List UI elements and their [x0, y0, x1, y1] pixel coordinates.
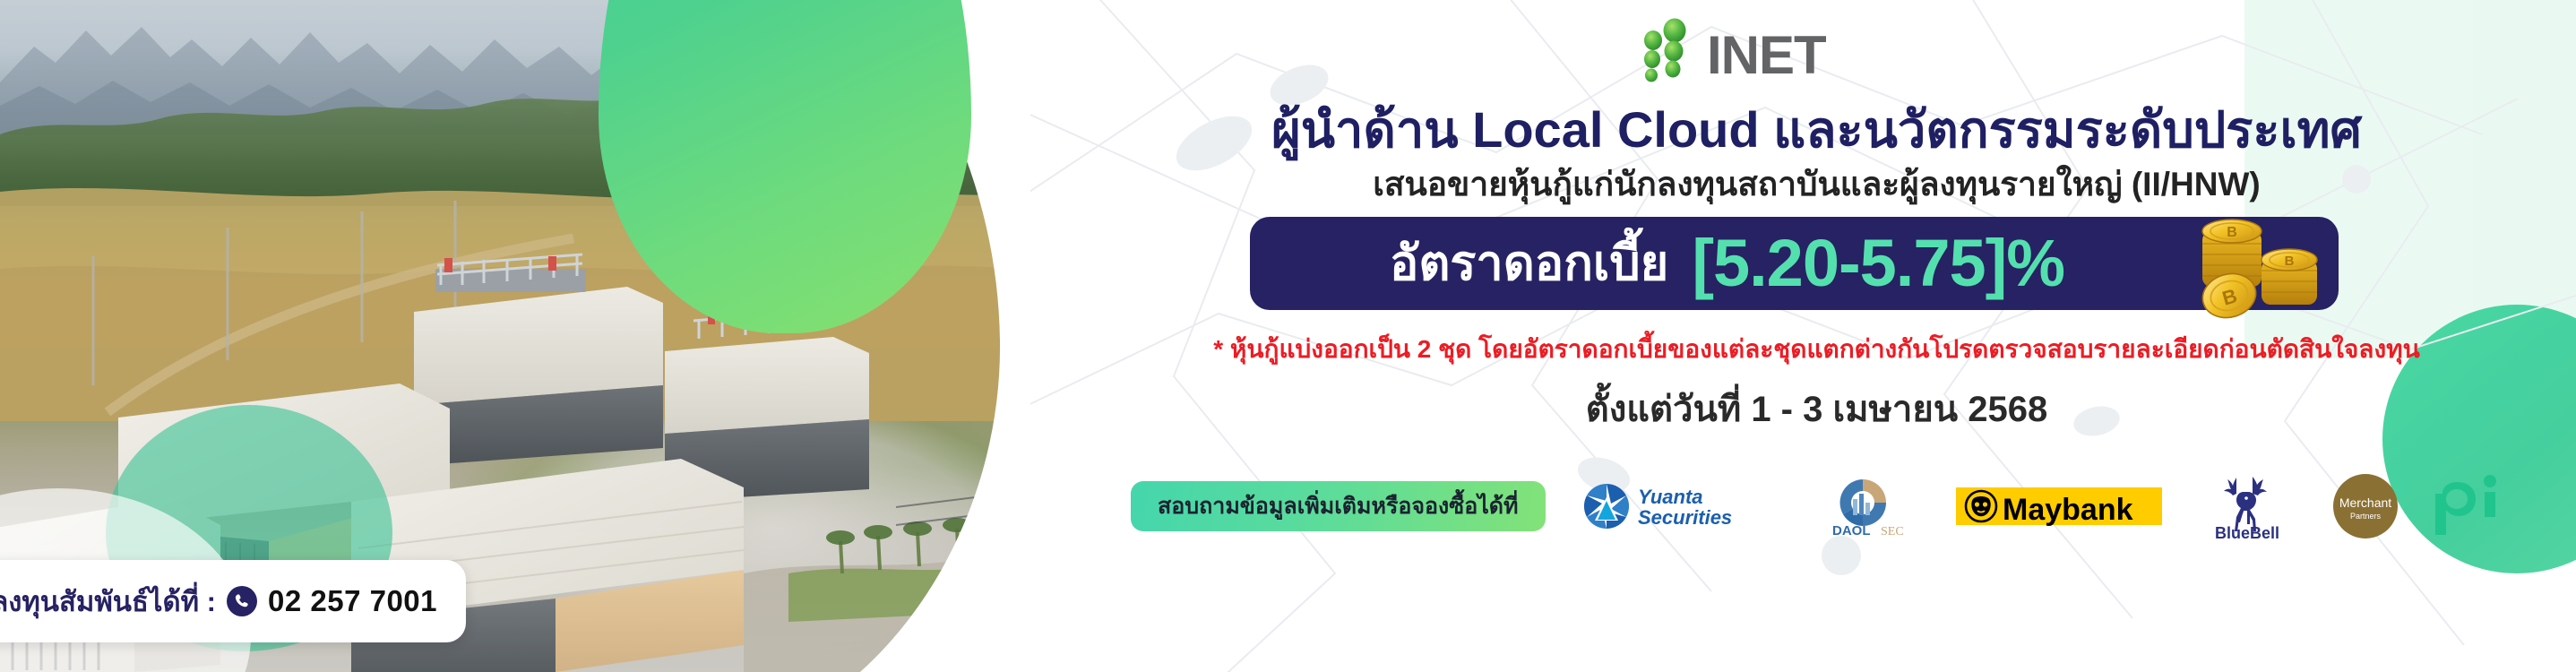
svg-text:B: B: [2227, 225, 2237, 240]
partner-logo-yuanta[interactable]: Yuanta Securities: [1582, 472, 1770, 540]
partner-logo-bluebell[interactable]: BlueBell: [2197, 472, 2297, 540]
daol-pie-icon: [1839, 479, 1886, 526]
partner-logo-pi[interactable]: [2434, 472, 2520, 540]
contact-label: ติดต่อฝ่ายนักลงทุนสัมพันธ์ได้ที่ :: [0, 579, 216, 624]
offering-period: ตั้งแต่วันที่ 1 - 3 เมษายน 2568: [1057, 380, 2576, 437]
interest-rate-banner: อัตราดอกเบี้ย [5.20-5.75]%: [1250, 217, 2339, 310]
partner-logos: Yuanta Securities: [1546, 472, 2537, 540]
footnote-disclaimer: * หุ้นกู้แบ่งออกเป็น 2 ชุด โดยอัตราดอกเบ…: [1057, 330, 2576, 369]
cta-and-partners-row: สอบถามข้อมูลเพิ่มเติมหรือจองซื้อได้ที่: [1131, 472, 2537, 540]
bluebell-deer-icon: [2224, 477, 2267, 531]
gold-coins-icon: B B: [2183, 195, 2333, 321]
svg-text:Partners: Partners: [2350, 512, 2382, 521]
svg-text:DAOL: DAOL: [1832, 523, 1871, 538]
svg-text:SEC: SEC: [1881, 525, 1904, 538]
partner-logo-maybank[interactable]: Maybank: [1956, 472, 2162, 540]
svg-text:Maybank: Maybank: [2003, 493, 2133, 527]
partner-logo-merchant[interactable]: Merchant Partners: [2332, 472, 2399, 540]
inet-logo: INET: [1635, 13, 1931, 82]
svg-text:Yuanta: Yuanta: [1638, 486, 1703, 508]
interest-rate-label: อัตราดอกเบี้ย: [1390, 239, 1668, 288]
page-subtitle: เสนอขายหุ้นกู้แก่นักลงทุนสถาบันและผู้ลงท…: [1057, 158, 2576, 211]
svg-text:Securities: Securities: [1638, 506, 1732, 529]
svg-text:BlueBell: BlueBell: [2215, 524, 2279, 540]
inet-wordmark: INET: [1707, 30, 1826, 81]
pi-wordmark-icon: [2435, 475, 2496, 535]
interest-rate-value: [5.20-5.75]%: [1692, 230, 2064, 297]
inet-dots-icon: [1635, 16, 1702, 82]
svg-text:Merchant: Merchant: [2339, 495, 2391, 510]
yuanta-star-icon: [1584, 484, 1629, 529]
content-column: INET ผู้นำด้าน Local Cloud และนวัตกรรมระ…: [1057, 0, 2576, 672]
inet-debenture-banner: INET ผู้นำด้าน Local Cloud และนวัตกรรมระ…: [0, 0, 2576, 672]
inquire-button[interactable]: สอบถามข้อมูลเพิ่มเติมหรือจองซื้อได้ที่: [1131, 481, 1546, 531]
phone-icon: [227, 586, 257, 616]
svg-text:B: B: [2285, 254, 2295, 269]
contact-phone-number[interactable]: 02 257 7001: [268, 584, 437, 618]
partner-logo-daol[interactable]: DAOL SEC: [1805, 472, 1920, 540]
investor-relations-contact-card: ติดต่อฝ่ายนักลงทุนสัมพันธ์ได้ที่ : 02 25…: [0, 560, 466, 642]
